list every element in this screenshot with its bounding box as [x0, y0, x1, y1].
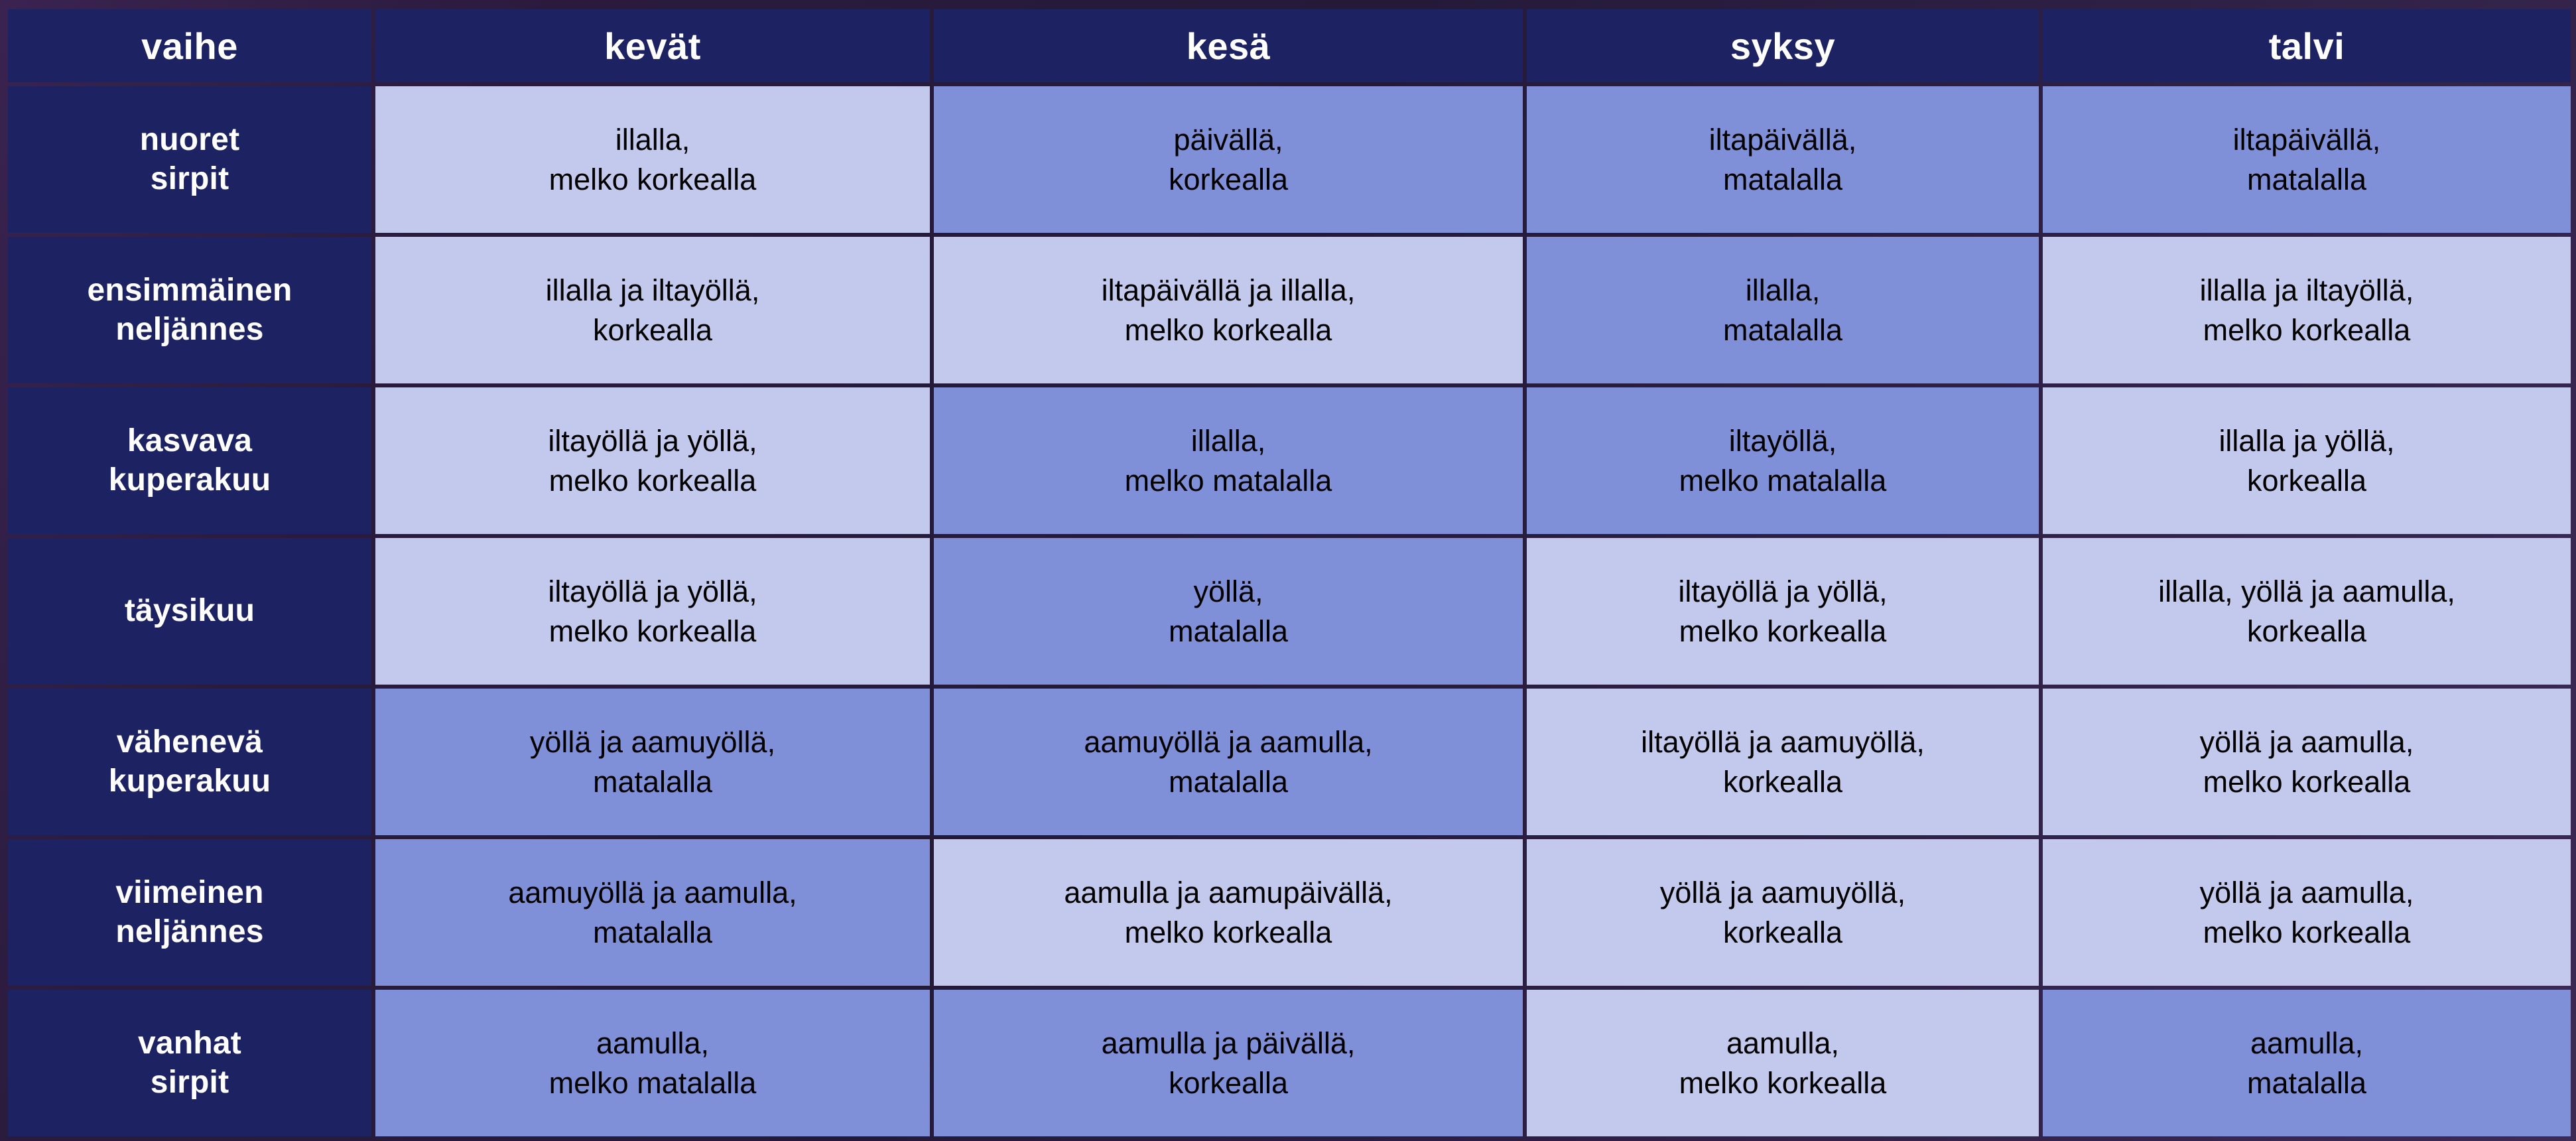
row-label-line2: kuperakuu: [12, 461, 367, 500]
cell-line2: matalalla: [382, 762, 923, 801]
cell-line2: melko matalalla: [1533, 461, 2032, 500]
cell-r1-c1: iltapäivällä ja illalla,melko korkealla: [934, 237, 1523, 383]
row-label-line1: vähenevä: [12, 723, 367, 762]
cell-line1: iltayöllä ja yöllä,: [382, 572, 923, 611]
cell-line1: iltayöllä ja aamuyöllä,: [1533, 722, 2032, 762]
cell-line2: matalalla: [940, 612, 1516, 651]
cell-r3-c2: iltayöllä ja yöllä,melko korkealla: [1527, 538, 2039, 685]
row-label-line1: vanhat: [12, 1024, 367, 1063]
cell-r4-c1: aamuyöllä ja aamulla,matalalla: [934, 689, 1523, 835]
cell-line2: matalalla: [940, 762, 1516, 801]
cell-line1: illalla ja iltayöllä,: [382, 271, 923, 310]
cell-r6-c2: aamulla,melko korkealla: [1527, 990, 2039, 1136]
cell-r2-c2: iltayöllä,melko matalalla: [1527, 387, 2039, 534]
cell-line1: yöllä ja aamulla,: [2049, 722, 2564, 762]
row-label-line2: kuperakuu: [12, 762, 367, 801]
cell-line2: korkealla: [940, 160, 1516, 199]
table-row: kasvavakuperakuuiltayöllä ja yöllä,melko…: [8, 387, 2571, 534]
cell-r1-c2: illalla,matalalla: [1527, 237, 2039, 383]
row-label-line1: ensimmäinen: [12, 271, 367, 310]
cell-line1: yöllä ja aamuyöllä,: [1533, 873, 2032, 912]
row-label-4: väheneväkuperakuu: [8, 689, 371, 835]
cell-line1: aamulla,: [2049, 1024, 2564, 1063]
cell-line2: korkealla: [2049, 461, 2564, 500]
cell-line2: melko matalalla: [382, 1063, 923, 1103]
cell-r2-c1: illalla,melko matalalla: [934, 387, 1523, 534]
cell-r0-c2: iltapäivällä,matalalla: [1527, 86, 2039, 233]
cell-line1: aamuyöllä ja aamulla,: [382, 873, 923, 912]
cell-line2: korkealla: [940, 1063, 1516, 1103]
cell-r3-c3: illalla, yöllä ja aamulla,korkealla: [2043, 538, 2571, 685]
cell-line2: matalalla: [2049, 1063, 2564, 1103]
cell-r2-c0: iltayöllä ja yöllä,melko korkealla: [375, 387, 930, 534]
cell-line2: melko korkealla: [1533, 1063, 2032, 1103]
cell-r0-c3: iltapäivällä,matalalla: [2043, 86, 2571, 233]
cell-line2: melko korkealla: [382, 612, 923, 651]
cell-line2: melko korkealla: [2049, 913, 2564, 952]
cell-line2: melko korkealla: [382, 160, 923, 199]
cell-line1: illalla ja iltayöllä,: [2049, 271, 2564, 310]
row-label-line2: sirpit: [12, 160, 367, 199]
cell-r0-c1: päivällä,korkealla: [934, 86, 1523, 233]
row-label-0: nuoretsirpit: [8, 86, 371, 233]
cell-r2-c3: illalla ja yöllä,korkealla: [2043, 387, 2571, 534]
column-header-vaihe: vaihe: [8, 9, 371, 82]
column-header-talvi: talvi: [2043, 9, 2571, 82]
cell-r4-c3: yöllä ja aamulla,melko korkealla: [2043, 689, 2571, 835]
cell-r5-c3: yöllä ja aamulla,melko korkealla: [2043, 839, 2571, 986]
cell-line1: iltayöllä ja yöllä,: [1533, 572, 2032, 611]
cell-line2: korkealla: [2049, 612, 2564, 651]
cell-line1: illalla ja yöllä,: [2049, 421, 2564, 460]
cell-line1: illalla,: [1533, 271, 2032, 310]
row-label-line1: kasvava: [12, 422, 367, 461]
cell-line2: melko matalalla: [940, 461, 1516, 500]
row-label-line2: neljännes: [12, 310, 367, 350]
row-label-line1: nuoret: [12, 121, 367, 160]
column-header-kevat: kevät: [375, 9, 930, 82]
cell-r3-c0: iltayöllä ja yöllä,melko korkealla: [375, 538, 930, 685]
cell-line1: aamulla,: [382, 1024, 923, 1063]
table-row: täysikuuiltayöllä ja yöllä,melko korkeal…: [8, 538, 2571, 685]
cell-r6-c0: aamulla,melko matalalla: [375, 990, 930, 1136]
column-header-kesa: kesä: [934, 9, 1523, 82]
row-label-2: kasvavakuperakuu: [8, 387, 371, 534]
cell-line2: melko korkealla: [2049, 310, 2564, 350]
cell-r1-c0: illalla ja iltayöllä,korkealla: [375, 237, 930, 383]
cell-line2: melko korkealla: [1533, 612, 2032, 651]
row-label-6: vanhatsirpit: [8, 990, 371, 1136]
cell-r5-c2: yöllä ja aamuyöllä,korkealla: [1527, 839, 2039, 986]
cell-line2: melko korkealla: [940, 913, 1516, 952]
cell-r3-c1: yöllä,matalalla: [934, 538, 1523, 685]
cell-r4-c0: yöllä ja aamuyöllä,matalalla: [375, 689, 930, 835]
table-row: vanhatsirpitaamulla,melko matalallaaamul…: [8, 990, 2571, 1136]
cell-line1: aamulla,: [1533, 1024, 2032, 1063]
cell-line2: melko korkealla: [382, 461, 923, 500]
cell-r6-c1: aamulla ja päivällä,korkealla: [934, 990, 1523, 1136]
cell-line1: iltapäivällä,: [2049, 120, 2564, 159]
cell-r0-c0: illalla,melko korkealla: [375, 86, 930, 233]
cell-line2: melko korkealla: [2049, 762, 2564, 801]
cell-r6-c3: aamulla,matalalla: [2043, 990, 2571, 1136]
cell-line1: illalla,: [940, 421, 1516, 460]
cell-line2: korkealla: [1533, 913, 2032, 952]
cell-line1: iltapäivällä,: [1533, 120, 2032, 159]
cell-line1: aamuyöllä ja aamulla,: [940, 722, 1516, 762]
cell-line1: iltayöllä ja yöllä,: [382, 421, 923, 460]
cell-line1: iltayöllä,: [1533, 421, 2032, 460]
row-label-5: viimeinenneljännes: [8, 839, 371, 986]
table-header: vaihe kevät kesä syksy talvi: [8, 9, 2571, 82]
cell-line1: illalla, yöllä ja aamulla,: [2049, 572, 2564, 611]
header-row: vaihe kevät kesä syksy talvi: [8, 9, 2571, 82]
cell-line1: yöllä ja aamulla,: [2049, 873, 2564, 912]
cell-r5-c0: aamuyöllä ja aamulla,matalalla: [375, 839, 930, 986]
cell-line1: päivällä,: [940, 120, 1516, 159]
table-row: ensimmäinenneljännesillalla ja iltayöllä…: [8, 237, 2571, 383]
cell-r4-c2: iltayöllä ja aamuyöllä,korkealla: [1527, 689, 2039, 835]
table-body: nuoretsirpitillalla,melko korkeallapäivä…: [8, 86, 2571, 1136]
cell-line2: korkealla: [1533, 762, 2032, 801]
column-header-syksy: syksy: [1527, 9, 2039, 82]
row-label-line2: neljännes: [12, 913, 367, 952]
cell-line2: matalalla: [1533, 160, 2032, 199]
row-label-1: ensimmäinenneljännes: [8, 237, 371, 383]
row-label-3: täysikuu: [8, 538, 371, 685]
cell-line2: matalalla: [382, 913, 923, 952]
cell-line1: aamulla ja aamupäivällä,: [940, 873, 1516, 912]
cell-line1: illalla,: [382, 120, 923, 159]
row-label-line1: viimeinen: [12, 874, 367, 913]
moon-phase-table: vaihe kevät kesä syksy talvi nuoretsirpi…: [4, 5, 2575, 1140]
cell-line1: iltapäivällä ja illalla,: [940, 271, 1516, 310]
table-row: nuoretsirpitillalla,melko korkeallapäivä…: [8, 86, 2571, 233]
cell-line2: korkealla: [382, 310, 923, 350]
row-label-line1: täysikuu: [12, 592, 367, 631]
cell-line1: yöllä ja aamuyöllä,: [382, 722, 923, 762]
cell-line2: matalalla: [1533, 310, 2032, 350]
cell-line2: matalalla: [2049, 160, 2564, 199]
table-row: väheneväkuperakuuyöllä ja aamuyöllä,mata…: [8, 689, 2571, 835]
cell-line2: melko korkealla: [940, 310, 1516, 350]
table-row: viimeinenneljännesaamuyöllä ja aamulla,m…: [8, 839, 2571, 986]
cell-r1-c3: illalla ja iltayöllä,melko korkealla: [2043, 237, 2571, 383]
cell-line1: aamulla ja päivällä,: [940, 1024, 1516, 1063]
cell-line1: yöllä,: [940, 572, 1516, 611]
cell-r5-c1: aamulla ja aamupäivällä,melko korkealla: [934, 839, 1523, 986]
row-label-line2: sirpit: [12, 1063, 367, 1103]
moon-phase-table-container: vaihe kevät kesä syksy talvi nuoretsirpi…: [4, 5, 2572, 1141]
